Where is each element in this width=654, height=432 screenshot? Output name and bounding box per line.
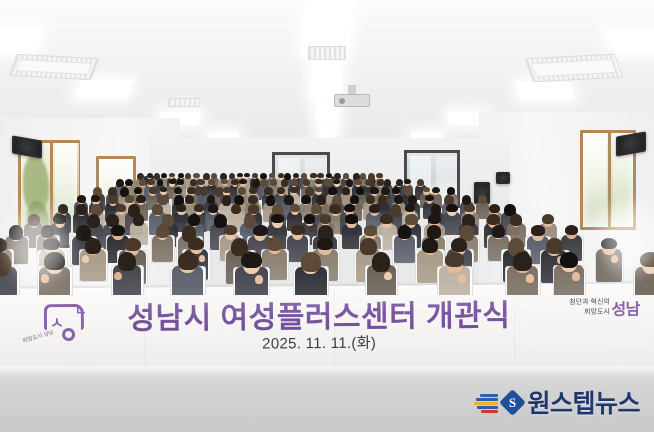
audience-hair: [241, 252, 261, 268]
audience-hair: [445, 252, 465, 267]
audience-hair: [224, 225, 237, 235]
audience-member: [435, 250, 473, 295]
audience-hair: [290, 187, 298, 193]
finger-heart-gesture: [384, 272, 392, 280]
audience-hair: [333, 179, 340, 184]
watermark-bar: [476, 398, 498, 401]
ceremony-banner: ㅅ ㄴ 희망도시 성남 성남시 여성플러스센터 개관식 2025. 11. 11…: [0, 283, 654, 370]
audience-hair: [290, 179, 297, 186]
projector-lens: [339, 98, 345, 104]
audience-hair: [425, 195, 434, 201]
audience-hair: [531, 225, 545, 235]
window-light-glow: [8, 210, 68, 280]
audience-hair: [136, 195, 145, 203]
slogan-line-2: 희망도시: [584, 307, 610, 317]
audience-hair: [291, 225, 305, 235]
ceiling-light-panel: [605, 30, 654, 54]
finger-heart-gesture: [572, 272, 580, 280]
watermark-bar: [480, 394, 498, 397]
audience-hair: [169, 173, 175, 178]
audience-hair: [405, 204, 415, 212]
audience-hair: [404, 179, 411, 184]
audience-hair: [369, 204, 380, 213]
audience-hair: [304, 214, 315, 224]
audience-member: [551, 250, 586, 295]
audience-hair: [91, 195, 100, 202]
watermark-badge-letter: S: [503, 393, 522, 412]
audience-member: [291, 250, 330, 295]
audience-hair: [380, 214, 393, 223]
audience-hair: [510, 214, 522, 225]
audience-hair: [118, 252, 136, 272]
ceiling-air-vent: [9, 54, 99, 80]
audience-hair: [290, 204, 300, 212]
finger-heart-gesture: [526, 274, 534, 283]
audience-hair: [223, 187, 231, 193]
audience-hair: [188, 238, 204, 251]
watermark-text: 원스텝뉴스: [527, 384, 640, 420]
audience-hair: [187, 187, 195, 194]
banner-date: 2025. 11. 11.(화): [104, 330, 534, 354]
ceiling-projector: [334, 85, 370, 109]
audience-hair: [372, 252, 390, 272]
audience-hair: [156, 225, 169, 238]
audience-hair: [301, 252, 321, 272]
seongnam-slogan-right: 첨단과 혁신의 희망도시 성남: [544, 296, 640, 331]
audience-hair: [464, 204, 475, 212]
slogan-line-1: 첨단과 혁신의: [569, 297, 610, 307]
audience-hair: [542, 214, 554, 224]
audience-hair: [428, 214, 441, 224]
audience-hair: [398, 225, 412, 238]
audience-hair: [315, 187, 323, 193]
audience-hair: [432, 187, 440, 193]
floor-highlight: [0, 366, 654, 378]
audience-hair: [133, 214, 144, 226]
projector-mount-arm: [348, 85, 356, 94]
ceiling-air-vent: [525, 54, 624, 83]
seongnam-emblem-left: ㅅ ㄴ 희망도시 성남: [22, 302, 102, 353]
audience-hair: [376, 173, 383, 178]
audience-hair: [303, 179, 310, 186]
watermark-s-badge-icon: S: [500, 389, 527, 416]
ceiling-air-vent: [167, 98, 201, 107]
audience-crowd: [0, 170, 654, 295]
audience-hair: [560, 252, 578, 268]
watermark-bar: [481, 410, 498, 413]
audience-member: [169, 250, 207, 295]
audience-hair: [364, 225, 378, 235]
audience-hair: [178, 252, 198, 270]
vent-grille: [531, 59, 617, 77]
emblem-circle: [62, 328, 75, 341]
audience-hair: [208, 179, 215, 185]
audience-hair: [253, 225, 268, 236]
audience-hair: [111, 225, 125, 236]
audience-hair: [565, 225, 578, 235]
event-photo: ㅅ ㄴ 희망도시 성남 성남시 여성플러스센터 개관식 2025. 11. 11…: [0, 0, 654, 432]
watermark-bar: [474, 402, 498, 405]
watermark-bars-icon: [474, 391, 498, 413]
audience-hair: [176, 204, 186, 212]
finger-heart-gesture: [458, 274, 467, 283]
ceiling-light-panel: [75, 80, 132, 98]
finger-heart-gesture: [114, 272, 122, 280]
audience-hair: [208, 204, 218, 213]
audience-hair: [317, 238, 333, 251]
audience-hair: [513, 252, 533, 272]
audience-hair: [77, 195, 86, 203]
audience-hair: [270, 179, 277, 186]
audience-hair: [345, 214, 358, 224]
audience-member: [504, 250, 542, 295]
finger-heart-gesture: [255, 275, 264, 284]
audience-member: [364, 250, 399, 295]
emblem-letter-r: ㄴ: [75, 300, 87, 319]
audience-hair: [271, 214, 284, 223]
audience-member: [110, 250, 145, 295]
audience-hair: [177, 179, 184, 186]
slogan-wordmark: 성남: [611, 296, 640, 320]
audience-member: [78, 236, 109, 286]
audience-hair: [160, 187, 168, 192]
ceiling-air-vent: [308, 46, 346, 60]
audience-hair: [320, 214, 331, 224]
audience-hair: [85, 238, 101, 254]
vent-grille: [16, 59, 93, 75]
finger-heart-gesture: [82, 255, 89, 262]
audience-hair: [157, 179, 164, 186]
audience-hair: [392, 187, 400, 194]
audience-hair: [239, 179, 247, 185]
window-light-glow: [600, 204, 654, 274]
ceiling-light-panel: [515, 82, 574, 100]
audience-hair: [446, 204, 457, 212]
emblem-subtitle: 희망도시 성남: [22, 328, 55, 345]
audience-member: [232, 250, 271, 295]
news-watermark: S 원스텝뉴스: [474, 384, 640, 420]
audience-hair: [344, 204, 355, 212]
watermark-bar: [477, 406, 498, 409]
